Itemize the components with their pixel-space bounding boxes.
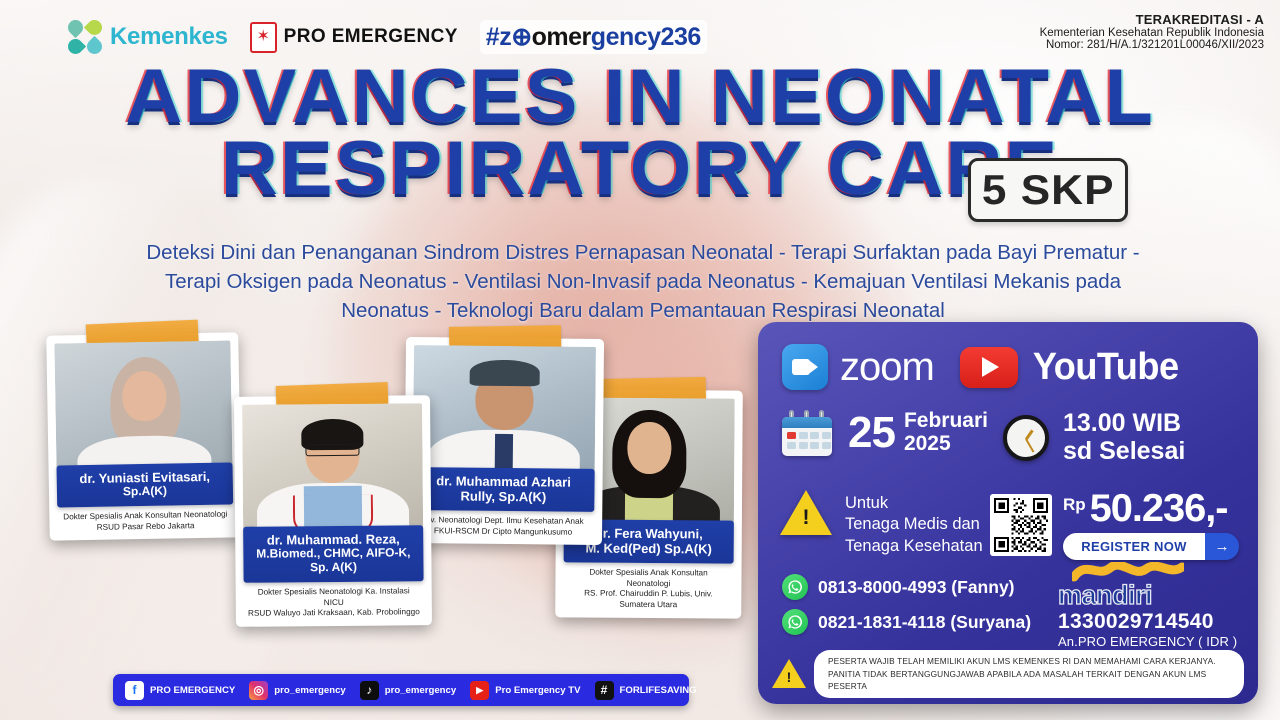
speaker-affiliation-line2: RSUD Waluyo Jati Kraksaan, Kab. Probolin… xyxy=(248,607,420,619)
speaker-name: dr. Muhammad. Reza, M.Biomed., CHMC, AIF… xyxy=(243,525,423,582)
speaker-name-line2: Sp.A(K) xyxy=(61,484,229,501)
globe-icon: ⊕ xyxy=(511,23,531,51)
bank-details: mandiri 1330029714540 An.PRO EMERGENCY (… xyxy=(1058,562,1237,649)
warning-triangle-icon: ! xyxy=(772,659,806,689)
social-item-hashtag[interactable]: # FORLIFESAVING xyxy=(595,681,697,700)
bank-account-name: An.PRO EMERGENCY ( IDR ) xyxy=(1058,634,1237,649)
topics-subtitle: Deteksi Dini dan Penanganan Sindrom Dist… xyxy=(120,238,1166,325)
qr-code-icon[interactable] xyxy=(990,494,1052,556)
accreditation-number: Nomor: 281/H/A.1/321201L00046/XII/2023 xyxy=(1040,39,1264,51)
disclaimer-line2: PANITIA TIDAK BERTANGGUNGJAWAB APABILA A… xyxy=(828,668,1230,693)
speakers-section: dr. Yuniasti Evitasari, Sp.A(K) Dokter S… xyxy=(0,318,745,658)
price-block: Rp 50.236,- REGISTER NOW → xyxy=(1063,490,1239,560)
event-date-block: 25 Februari 2025 xyxy=(782,410,988,456)
facebook-icon: f xyxy=(125,681,144,700)
whatsapp-icon xyxy=(782,609,808,635)
kemenkes-flower-icon xyxy=(68,20,102,54)
event-time-start: 13.00 WIB xyxy=(1063,410,1185,438)
social-item-facebook[interactable]: f PRO EMERGENCY xyxy=(125,681,235,700)
speaker-affiliation-line1: Dokter Spesialis Neonatologi Ka. Instala… xyxy=(248,586,420,609)
bank-account-number: 1330029714540 xyxy=(1058,610,1237,634)
register-now-label: REGISTER NOW xyxy=(1063,533,1205,560)
skp-badge: 5 SKP xyxy=(968,158,1128,222)
warning-triangle-icon: ! xyxy=(780,490,832,536)
kemenkes-logo: Kemenkes xyxy=(68,20,228,54)
accreditation-ministry: Kementerian Kesehatan Republik Indonesia xyxy=(1040,27,1264,39)
disclaimer-text: PESERTA WAJIB TELAH MEMILIKI AKUN LMS KE… xyxy=(814,650,1244,697)
speaker-affiliation: Dokter Spesialis Anak Konsultan Neonatol… xyxy=(57,504,234,540)
event-hashtag: #z⊕omergency236 xyxy=(480,20,707,54)
qr-code-graphic xyxy=(994,498,1048,552)
instagram-icon: ◎ xyxy=(249,681,268,700)
youtube-icon: ▶ xyxy=(470,681,489,700)
social-label-tiktok: pro_emergency xyxy=(385,685,456,696)
disclaimer-block: ! PESERTA WAJIB TELAH MEMILIKI AKUN LMS … xyxy=(772,656,1244,692)
whatsapp-icon xyxy=(782,574,808,600)
accreditation-block: TERAKREDITASI - A Kementerian Kesehatan … xyxy=(1040,12,1264,51)
register-now-button[interactable]: REGISTER NOW → xyxy=(1063,533,1239,560)
contact-number: 0813-8000-4993 (Fanny) xyxy=(818,577,1015,598)
speaker-affiliation: Dokter Spesialis Neonatologi Ka. Instala… xyxy=(244,581,424,627)
pro-emergency-label: PRO EMERGENCY xyxy=(284,26,458,48)
speaker-name-line2: M.Biomed., CHMC, AIFO-K, Sp. A(K) xyxy=(247,546,419,575)
social-item-tiktok[interactable]: ♪ pro_emergency xyxy=(360,681,456,700)
speaker-card: dr. Muhammad. Reza, M.Biomed., CHMC, AIF… xyxy=(234,395,432,627)
contact-number: 0821-1831-4118 (Suryana) xyxy=(818,612,1031,633)
webinar-poster: Kemenkes ✶ PRO EMERGENCY #z⊕omergency236… xyxy=(0,0,1280,720)
pro-emergency-logo: ✶ PRO EMERGENCY xyxy=(250,22,458,53)
social-label-instagram: pro_emergency xyxy=(274,685,345,696)
title-line-1: ADVANCES IN NEONATAL xyxy=(0,62,1280,132)
speaker-affiliation-line2: FKUI-RSCM Dr Cipto Mangunkusumo xyxy=(416,526,590,538)
contact-list: 0813-8000-4993 (Fanny) 0821-1831-4118 (S… xyxy=(782,574,1031,644)
audience-line2: Tenaga Medis dan xyxy=(845,514,983,535)
currency-label: Rp xyxy=(1063,490,1086,515)
clock-icon xyxy=(1003,415,1049,461)
speaker-name: dr. Muhammad Azhari Rully, Sp.A(K) xyxy=(412,467,594,512)
mandiri-wave-icon xyxy=(1072,562,1184,584)
skp-badge-label: 5 SKP xyxy=(982,166,1115,214)
tiktok-icon: ♪ xyxy=(360,681,379,700)
contact-row[interactable]: 0821-1831-4118 (Suryana) xyxy=(782,609,1031,635)
youtube-logo[interactable]: YouTube xyxy=(960,346,1182,389)
social-media-bar: f PRO EMERGENCY ◎ pro_emergency ♪ pro_em… xyxy=(113,674,689,706)
speaker-card: dr. Muhammad Azhari Rully, Sp.A(K) Div. … xyxy=(404,337,604,546)
speaker-name-line2: Rully, Sp.A(K) xyxy=(416,488,590,505)
social-label-facebook: PRO EMERGENCY xyxy=(150,685,235,696)
event-time-end: sd Selesai xyxy=(1063,438,1185,466)
disclaimer-line1: PESERTA WAJIB TELAH MEMILIKI AKUN LMS KE… xyxy=(828,655,1230,667)
speaker-affiliation-line1: Dokter Spesialis Anak Konsultan Neonatol… xyxy=(567,568,729,590)
youtube-label: YouTube xyxy=(1033,346,1179,389)
speaker-affiliation: Dokter Spesialis Anak Konsultan Neonatol… xyxy=(563,563,733,619)
speaker-card: dr. Yuniasti Evitasari, Sp.A(K) Dokter S… xyxy=(46,332,242,541)
zoom-logo[interactable]: zoom xyxy=(782,344,934,390)
event-info-panel: zoom YouTube 25 Fe xyxy=(758,322,1258,704)
mandiri-logo-label: mandiri xyxy=(1058,580,1237,611)
zoom-camera-icon xyxy=(782,344,828,390)
accreditation-title: TERAKREDITASI - A xyxy=(1040,12,1264,27)
audience-line1: Untuk xyxy=(845,493,983,514)
speaker-name: dr. Yuniasti Evitasari, Sp.A(K) xyxy=(56,462,233,507)
event-year: 2025 xyxy=(904,433,988,456)
target-audience-block: ! Untuk Tenaga Medis dan Tenaga Kesehata… xyxy=(780,490,983,557)
social-label-youtube: Pro Emergency TV xyxy=(495,685,580,696)
hashtag-middle: omer xyxy=(532,23,591,51)
price-amount: 50.236,- xyxy=(1089,490,1227,527)
platform-logos-row: zoom YouTube xyxy=(782,344,1182,390)
speaker-affiliation: Div. Neonatologi Dept. Ilmu Kesehatan An… xyxy=(412,510,594,545)
event-month: Februari xyxy=(904,410,988,433)
social-item-youtube[interactable]: ▶ Pro Emergency TV xyxy=(470,681,580,700)
youtube-play-icon xyxy=(960,347,1018,388)
speaker-name-line1: dr. Muhammad Azhari xyxy=(417,473,591,490)
star-of-life-icon: ✶ xyxy=(250,22,277,53)
speaker-affiliation-line2: RS. Prof. Chairuddin P. Lubis, Univ. Sum… xyxy=(567,589,729,611)
event-day: 25 xyxy=(848,412,895,454)
arrow-right-icon: → xyxy=(1205,533,1239,560)
hashtag-prefix: #z xyxy=(486,23,511,51)
zoom-label: zoom xyxy=(840,345,934,390)
hashtag-suffix: gency236 xyxy=(591,23,701,51)
event-time-block: 13.00 WIB sd Selesai xyxy=(1003,410,1185,465)
hashtag-icon: # xyxy=(595,681,614,700)
calendar-icon xyxy=(782,410,832,456)
social-item-instagram[interactable]: ◎ pro_emergency xyxy=(249,681,345,700)
contact-row[interactable]: 0813-8000-4993 (Fanny) xyxy=(782,574,1031,600)
social-label-hashtag: FORLIFESAVING xyxy=(620,685,697,696)
logo-strip: Kemenkes ✶ PRO EMERGENCY #z⊕omergency236 xyxy=(68,20,707,54)
kemenkes-label: Kemenkes xyxy=(110,23,228,51)
audience-line3: Tenaga Kesehatan xyxy=(845,536,983,557)
